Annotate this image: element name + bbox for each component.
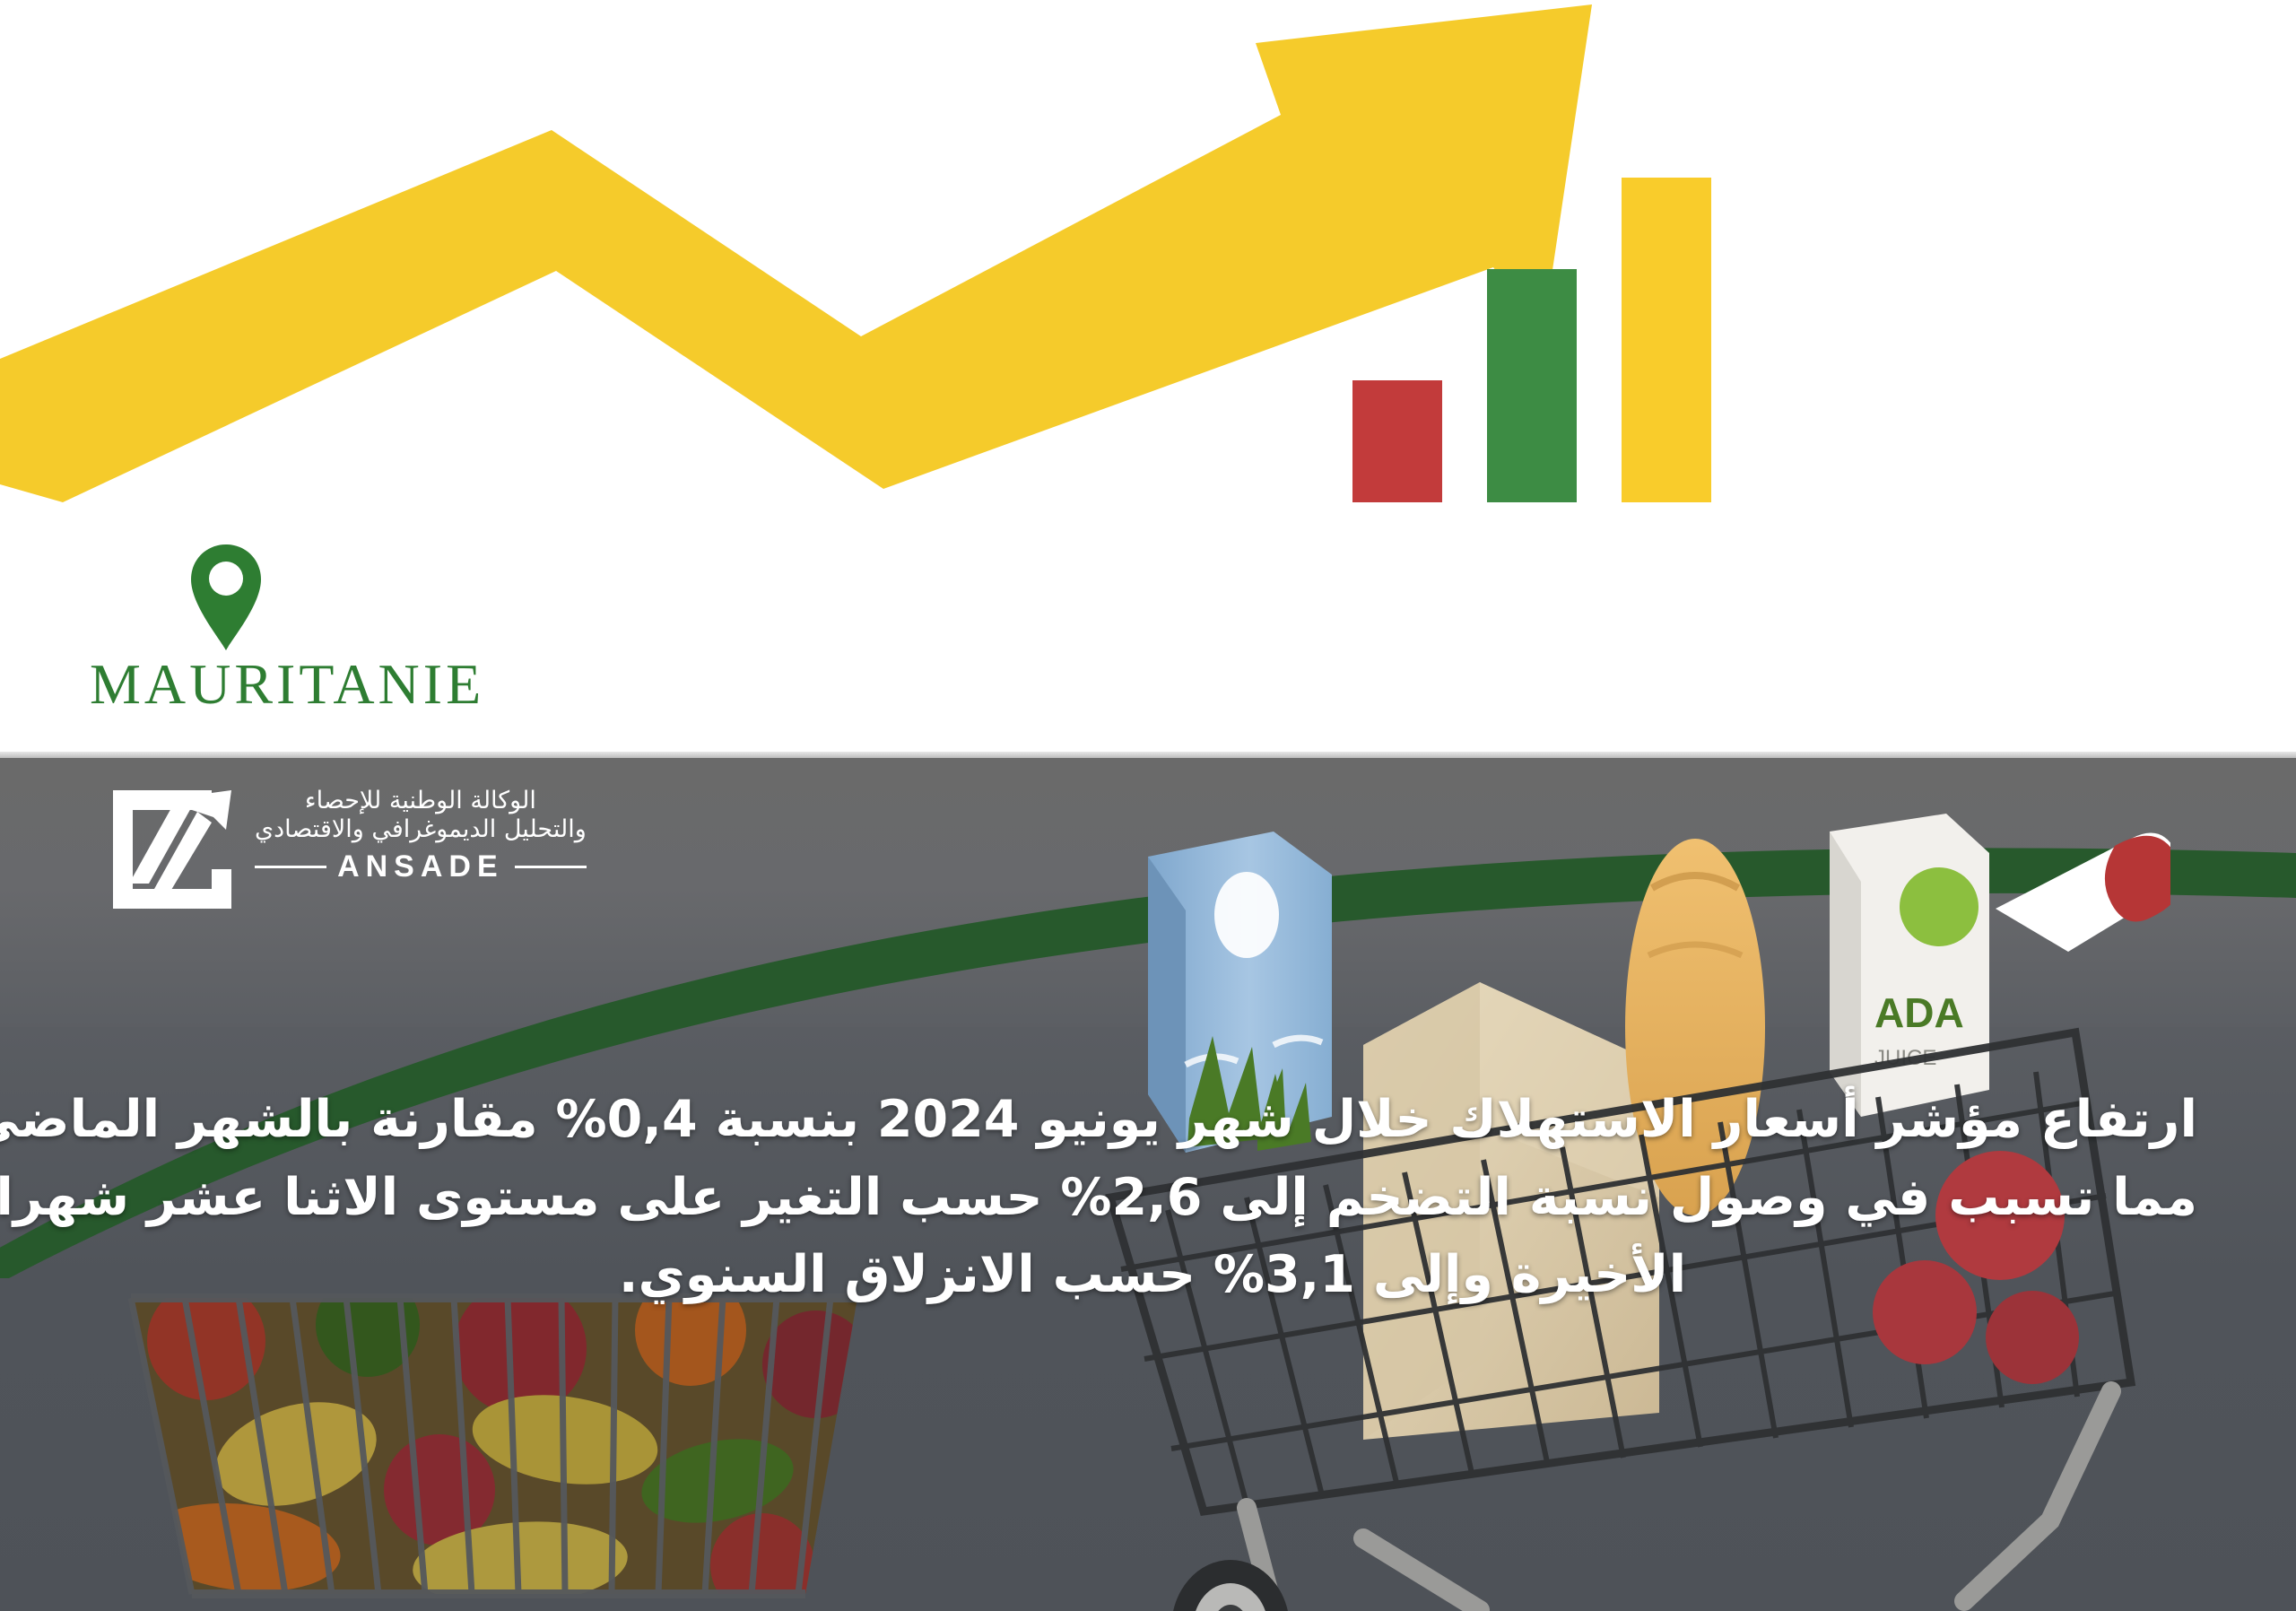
svg-text:ADA: ADA [1874,989,1964,1036]
ansade-arabic-line-2: والتحليل الديموغرافي والاقتصادي [255,815,587,844]
panel-divider [0,752,2296,758]
vegetables-basket [99,1278,888,1611]
bar-green [1487,269,1577,502]
infographic-poster: MAURITANIE [0,0,2296,1611]
headline-line-1: ارتفاع مؤشر أسعار الاستهلاك خلال شهر يون… [108,1081,2197,1159]
ansade-wordmark: الوكالة الوطنية للإحصاء والتحليل الديموغ… [255,783,587,884]
bottom-gray-panel: ADA JUICE [0,758,2296,1611]
rule-right [515,866,587,868]
headline-line-3: الأخيرة وإلى 3,1% حسب الانزلاق السنوي. [108,1236,2197,1314]
mauritanie-brand-lockup: MAURITANIE [90,543,592,713]
cart-handle [1996,833,2170,952]
headline-text-block: ارتفاع مؤشر أسعار الاستهلاك خلال شهر يون… [108,1081,2197,1314]
ansade-acronym-label: ANSADE [337,849,504,884]
top-white-panel: MAURITANIE [0,0,2296,758]
bar-red [1352,380,1442,502]
rule-left [255,866,326,868]
bar-chart-icon [1336,144,1758,502]
upward-trend-arrow-icon [0,0,2296,502]
bar-yellow [1622,178,1711,502]
brand-name-label: MAURITANIE [90,656,592,713]
ansade-acronym-row: ANSADE [255,849,587,884]
ansade-logo: الوكالة الوطنية للإحصاء والتحليل الديموغ… [106,783,587,916]
headline-line-2: مما تسبب في وصول نسبة التضخم إلى 2,6% حس… [108,1159,2197,1237]
ansade-mark-icon [106,783,239,916]
ansade-arabic-line-1: الوكالة الوطنية للإحصاء [255,787,587,815]
location-pin-icon [187,543,265,652]
